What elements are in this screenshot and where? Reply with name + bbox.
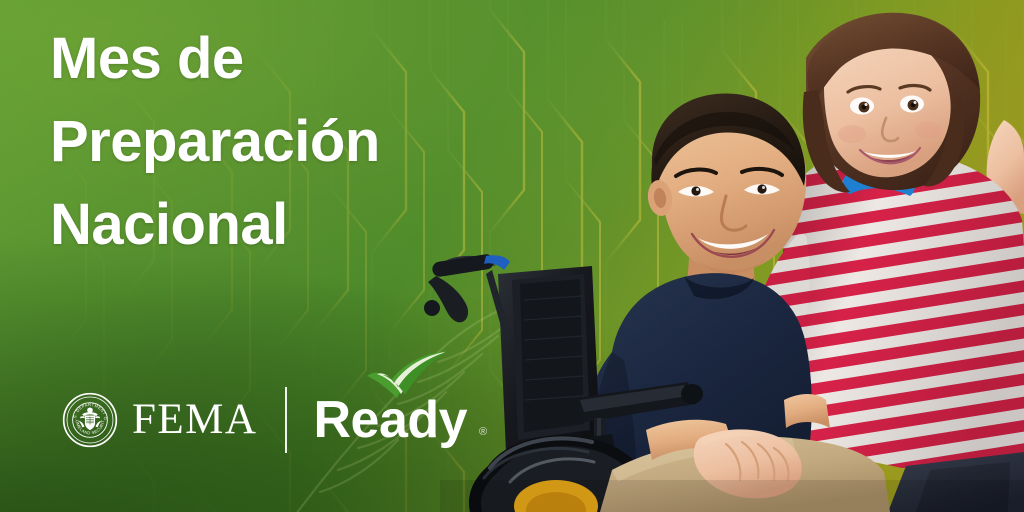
headline-line-1: Mes de: [50, 18, 520, 101]
fema-ready-logo-lockup: U.S. DEPARTMENT OF HOMELAND SECURITY: [62, 384, 487, 456]
green-checkmark-icon: [361, 350, 453, 402]
fema-wordmark: FEMA: [132, 398, 257, 443]
dhs-seal-icon: U.S. DEPARTMENT OF HOMELAND SECURITY: [62, 392, 118, 448]
logo-divider: [285, 387, 287, 453]
page-title: Mes de Preparación Nacional: [50, 18, 520, 267]
headline-line-2: Preparación: [50, 101, 520, 184]
ready-logo: Ready ®: [313, 394, 487, 446]
headline-line-3: Nacional: [50, 184, 520, 267]
ready-campaign-banner: Mes de Preparación Nacional U.S. DEPARTM…: [0, 0, 1024, 512]
registered-trademark-mark: ®: [479, 426, 487, 438]
